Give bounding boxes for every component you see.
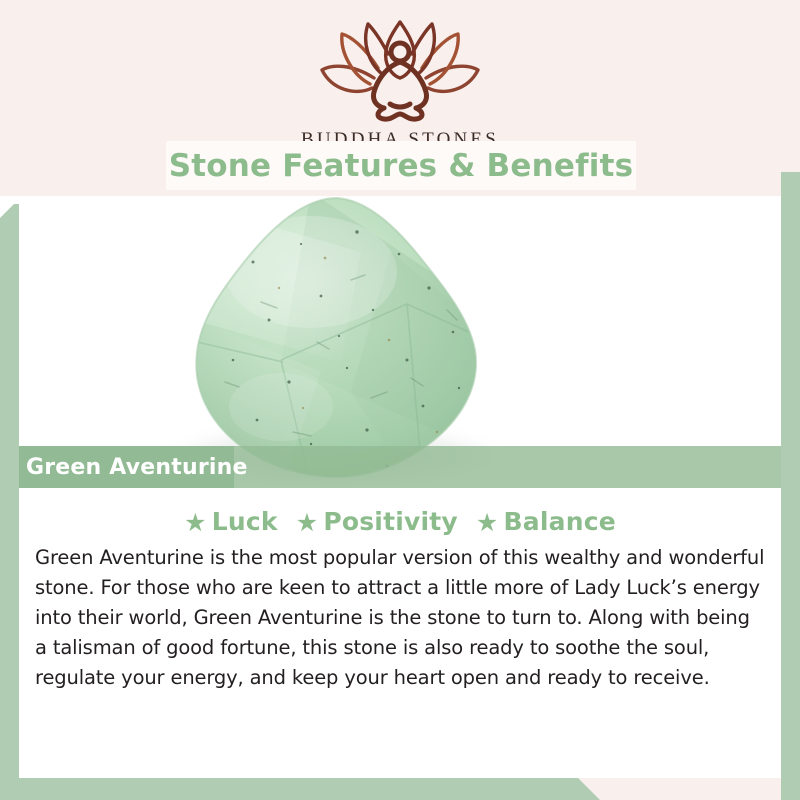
stone-description: Green Aventurine is the most popular ver… xyxy=(19,543,781,693)
lotus-meditation-icon xyxy=(0,18,800,127)
benefit-label: Luck xyxy=(212,507,278,536)
benefit-item-luck: ★Luck xyxy=(184,507,278,536)
page-title: Stone Features & Benefits xyxy=(169,148,634,184)
benefits-list: ★Luck★Positivity★Balance xyxy=(19,488,781,536)
benefit-item-balance: ★Balance xyxy=(476,507,616,536)
star-icon: ★ xyxy=(476,510,499,535)
header: BUDDHA STONES Stone Features & Benefits xyxy=(0,0,800,196)
star-icon: ★ xyxy=(296,510,319,535)
frame-green-bottom xyxy=(0,778,600,800)
star-icon: ★ xyxy=(184,510,207,535)
stone-name-bar: Green Aventurine xyxy=(19,446,781,488)
benefit-item-positivity: ★Positivity xyxy=(296,507,458,536)
title-banner: Stone Features & Benefits xyxy=(166,141,636,190)
frame-green-right xyxy=(781,172,800,800)
benefit-label: Balance xyxy=(504,507,616,536)
brand-logo: BUDDHA STONES xyxy=(0,18,800,151)
stone-info: ★Luck★Positivity★Balance Green Aventurin… xyxy=(19,488,781,778)
stone-name: Green Aventurine xyxy=(26,455,248,480)
frame-green-left xyxy=(0,204,19,800)
green-aventurine-stone-image xyxy=(161,196,521,488)
frame-green-corner xyxy=(781,778,800,800)
poster-canvas: BUDDHA STONES Stone Features & Benefits xyxy=(0,0,800,800)
benefit-label: Positivity xyxy=(323,507,458,536)
stone-photo xyxy=(19,196,781,488)
